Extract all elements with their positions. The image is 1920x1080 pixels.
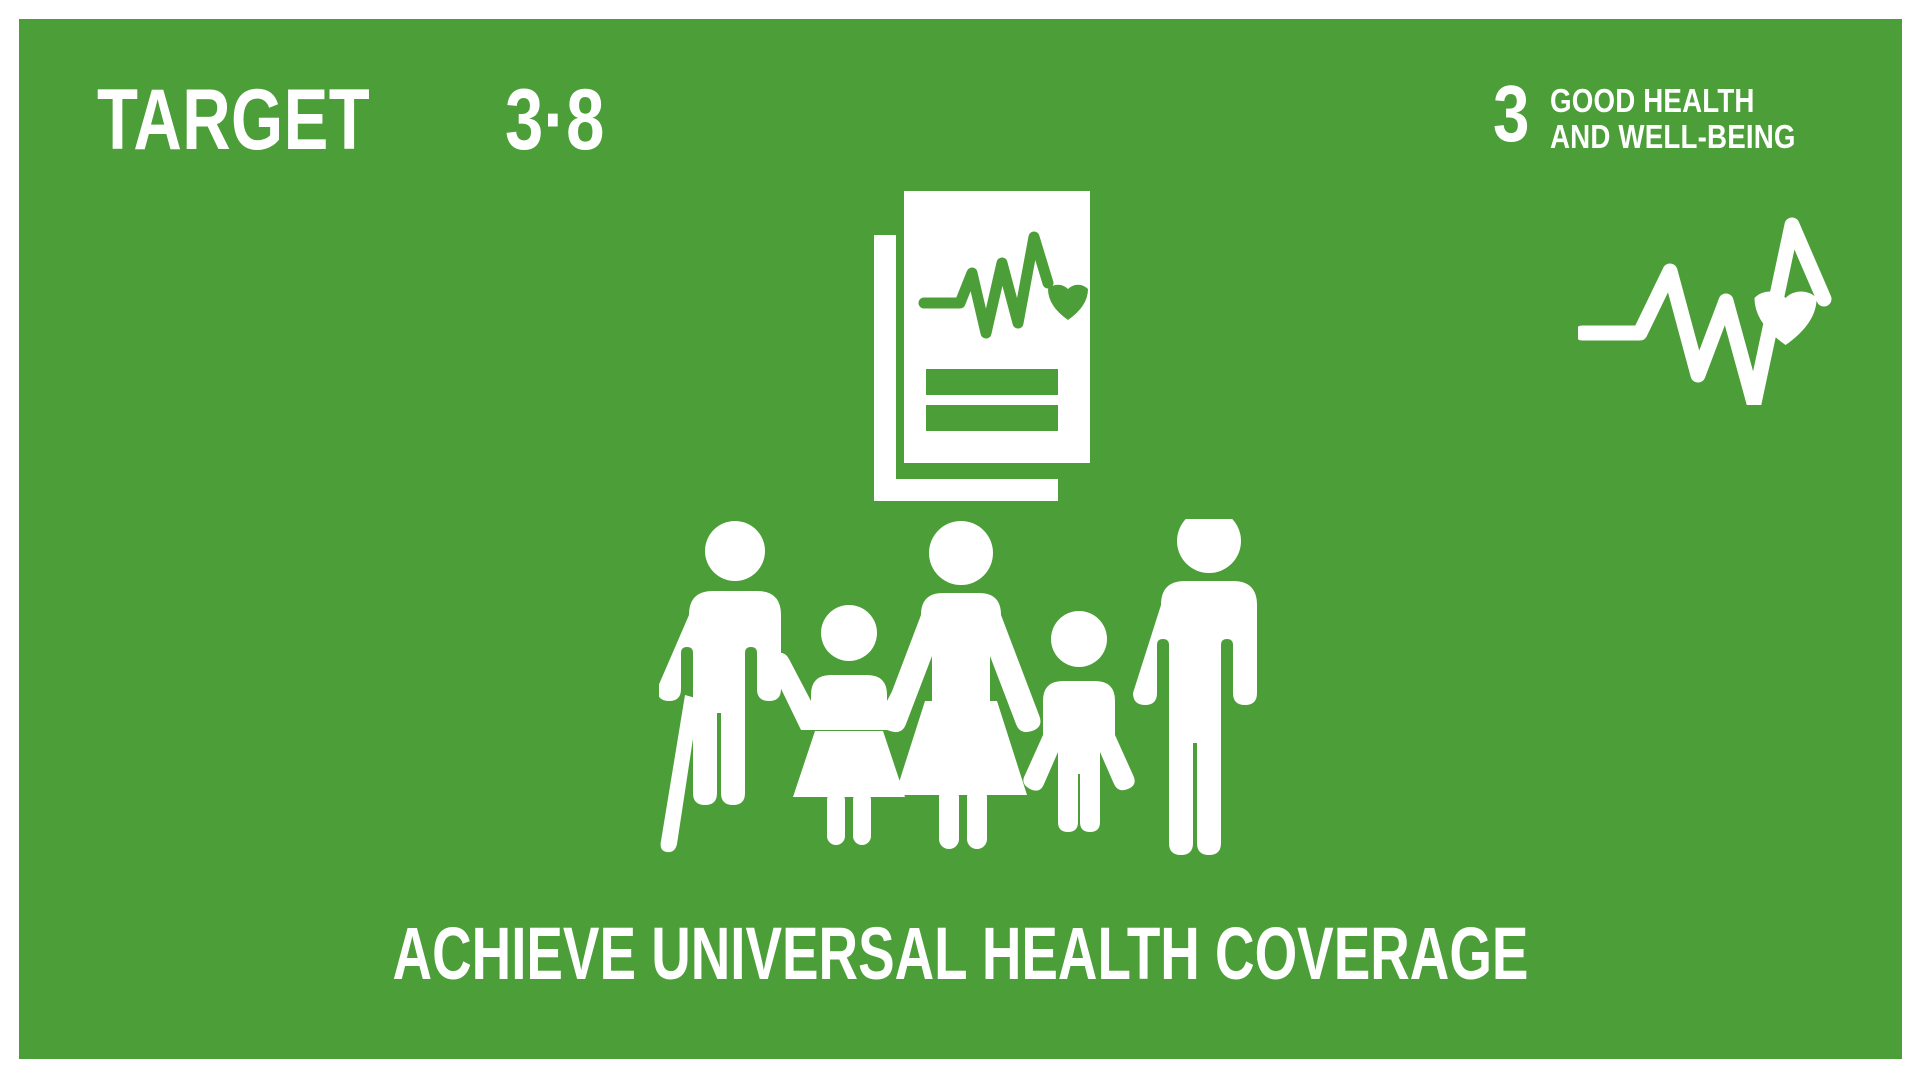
goal-badge: 3 GOOD HEALTH AND WELL-BEING bbox=[1489, 77, 1842, 154]
target-number: 3·8 bbox=[505, 77, 604, 163]
goal-title-line-2: AND WELL-BEING bbox=[1550, 119, 1796, 155]
figure-man bbox=[1133, 519, 1257, 855]
goal-title-line-1: GOOD HEALTH bbox=[1550, 83, 1796, 119]
green-panel: TARGET 3·8 3 GOOD HEALTH AND WELL-BEING bbox=[19, 19, 1902, 1059]
caption: ACHIEVE UNIVERSAL HEALTH COVERAGE bbox=[19, 917, 1902, 991]
family-group-pictogram bbox=[659, 519, 1299, 859]
figure-woman bbox=[882, 521, 1041, 849]
medical-report-document-icon bbox=[862, 191, 1102, 511]
caption-text: ACHIEVE UNIVERSAL HEALTH COVERAGE bbox=[393, 917, 1529, 991]
goal-title: GOOD HEALTH AND WELL-BEING bbox=[1550, 77, 1842, 154]
figure-elderly-man-with-cane bbox=[659, 521, 781, 852]
heartbeat-ecg-icon bbox=[1578, 215, 1850, 405]
target-label: TARGET bbox=[97, 77, 370, 163]
goal-number: 3 bbox=[1493, 77, 1529, 151]
document-text-bar-1 bbox=[926, 369, 1058, 395]
target-heading: TARGET 3·8 bbox=[97, 77, 629, 163]
sdg-target-poster: TARGET 3·8 3 GOOD HEALTH AND WELL-BEING bbox=[0, 0, 1920, 1080]
document-text-bar-2 bbox=[926, 405, 1058, 431]
